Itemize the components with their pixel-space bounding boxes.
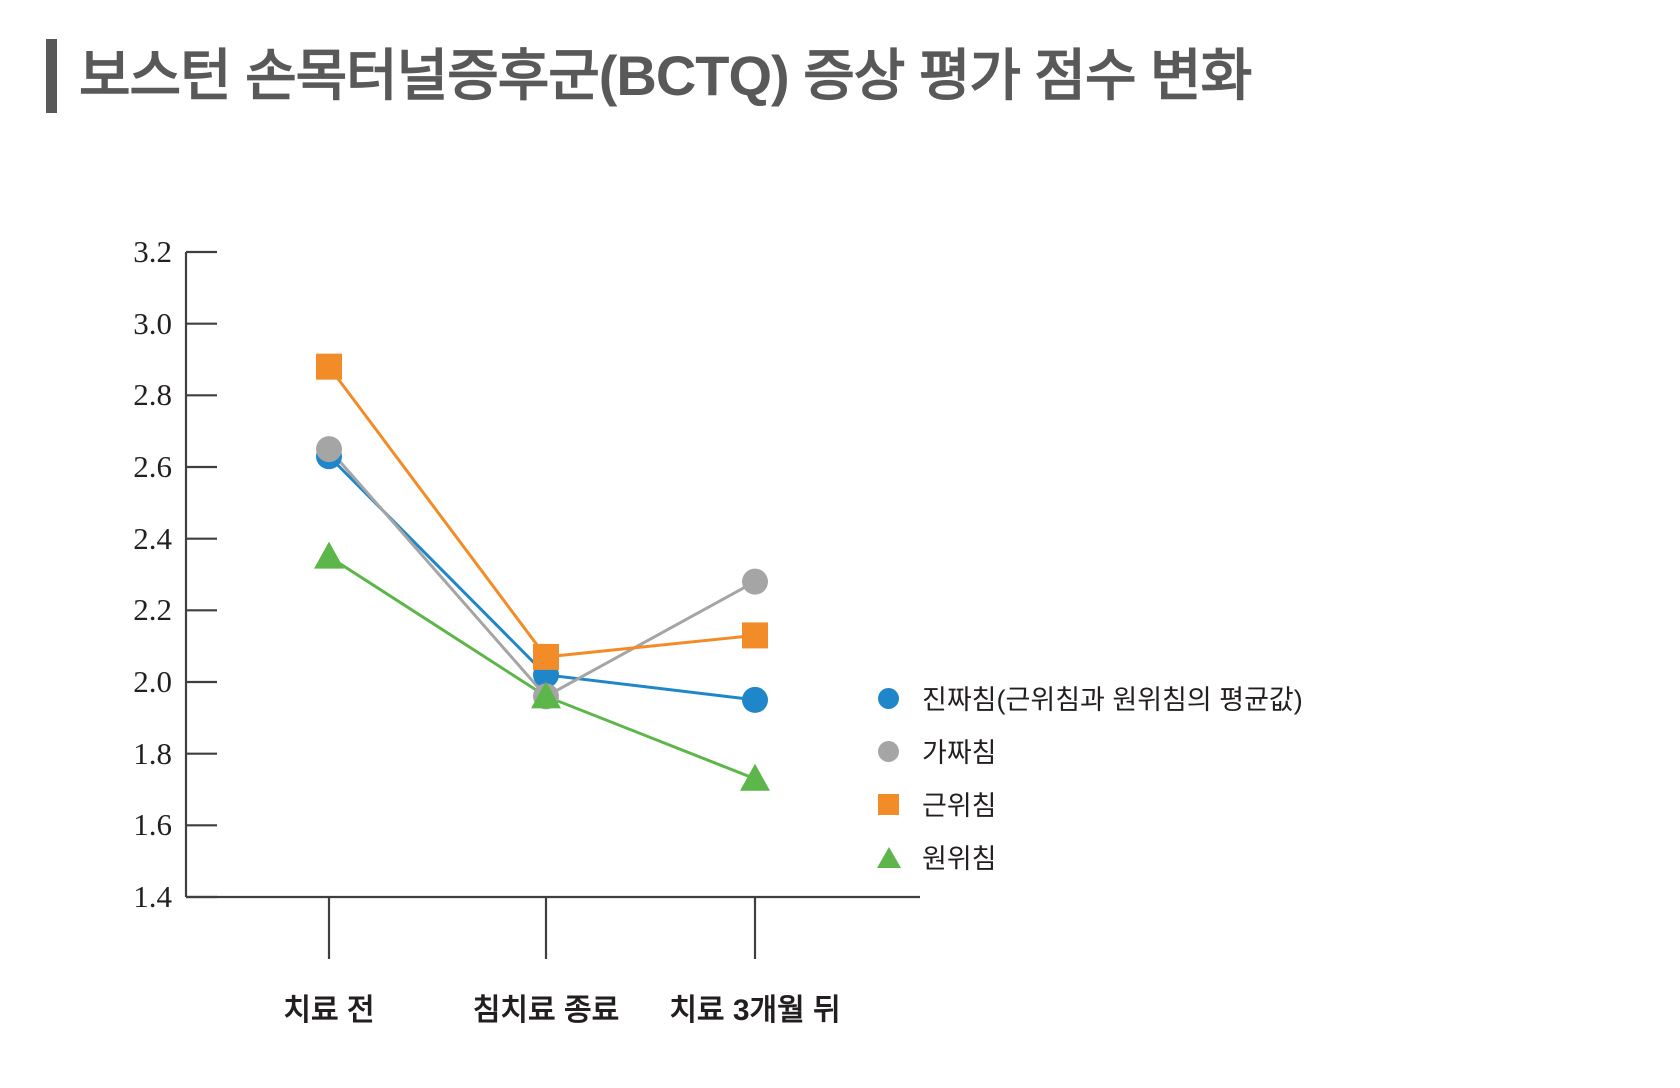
data-point-marker (742, 569, 768, 595)
data-point-marker (316, 436, 342, 462)
circle-marker-icon (872, 733, 906, 767)
y-axis-tick-label: 3.0 (92, 306, 172, 342)
x-axis-tick-label: 치료 전 (283, 985, 374, 1029)
chart-svg (0, 0, 1680, 1088)
x-axis-tick-label: 치료 3개월 뒤 (669, 985, 840, 1029)
data-point-marker (740, 764, 770, 791)
legend-item[interactable]: 진짜침(근위침과 원위침의 평균값) (872, 680, 1303, 714)
legend-item-label: 진짜침(근위침과 원위침의 평균값) (922, 678, 1303, 717)
legend-item-label: 근위침 (922, 784, 997, 823)
legend-item-label: 원위침 (922, 837, 997, 876)
square-marker-icon (872, 786, 906, 820)
axis-group (186, 252, 920, 959)
y-axis-tick-label: 2.4 (92, 521, 172, 557)
x-axis-tick-label: 침치료 종료 (473, 985, 619, 1029)
legend-item[interactable]: 근위침 (872, 786, 1303, 820)
legend-item[interactable]: 가짜침 (872, 733, 1303, 767)
y-axis-tick-label: 3.2 (92, 234, 172, 270)
legend-marker-shape (878, 794, 899, 815)
legend-marker-shape (877, 847, 901, 868)
data-point-marker (533, 644, 559, 670)
data-point-marker (316, 354, 342, 380)
data-point-marker (314, 542, 344, 569)
y-axis-tick-label: 1.8 (92, 736, 172, 772)
legend-item-label: 가짜침 (922, 731, 997, 770)
y-axis-tick-label: 2.6 (92, 449, 172, 485)
y-axis-tick-label: 2.8 (92, 377, 172, 413)
circle-marker-icon (872, 680, 906, 714)
legend-item[interactable]: 원위침 (872, 839, 1303, 873)
data-point-marker (742, 687, 768, 713)
y-axis-tick-label: 2.0 (92, 664, 172, 700)
chart-legend: 진짜침(근위침과 원위침의 평균값)가짜침근위침원위침 (872, 680, 1303, 873)
y-axis-tick-label: 1.4 (92, 879, 172, 915)
data-point-marker (742, 622, 768, 648)
chart-container: 3.23.02.82.62.42.22.01.81.61.4 치료 전침치료 종… (0, 0, 1680, 1088)
triangle-marker-icon (872, 839, 906, 873)
legend-marker-shape (878, 688, 899, 709)
y-axis-tick-label: 2.2 (92, 592, 172, 628)
y-axis-tick-label: 1.6 (92, 807, 172, 843)
legend-marker-shape (878, 741, 899, 762)
series-group (314, 354, 770, 791)
